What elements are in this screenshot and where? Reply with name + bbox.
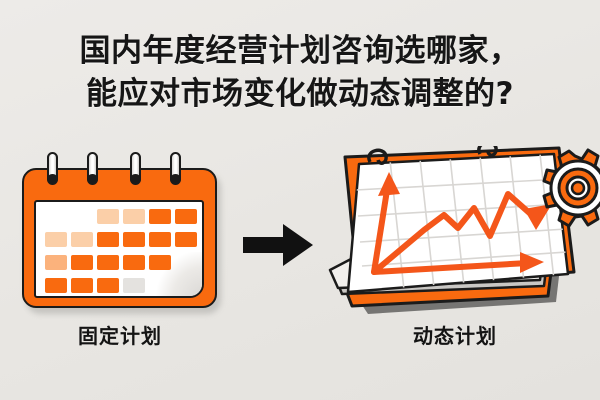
calendar-day-cell — [97, 255, 119, 270]
poster-canvas: 国内年度经营计划咨询选哪家， 能应对市场变化做动态调整的? 固定计划 — [0, 0, 600, 400]
calendar-day-cell — [175, 255, 197, 270]
calendar-day-cell — [45, 209, 67, 224]
calendar-day-cell — [97, 232, 119, 247]
calendar-day-cell — [123, 255, 145, 270]
headline-line-1: 国内年度经营计划咨询选哪家， — [0, 30, 600, 73]
calendar-day-cell — [71, 278, 93, 293]
calendar-day-cell — [71, 209, 93, 224]
calendar-day-cell — [175, 232, 197, 247]
calendar-page — [34, 200, 204, 298]
calendar-day-cell — [123, 209, 145, 224]
calendar-icon — [22, 168, 217, 308]
calendar-ring-icon — [47, 152, 58, 184]
calendar-day-cell — [45, 278, 67, 293]
calendar-ring-icon — [130, 152, 141, 184]
calendar-day-cell — [149, 255, 171, 270]
chart-calendar-icon — [312, 146, 600, 316]
calendar-rings — [22, 152, 217, 186]
caption-fixed-plan: 固定计划 — [20, 320, 220, 349]
calendar-ring-icon — [87, 152, 98, 184]
calendar-day-cell — [45, 232, 67, 247]
calendar-day-cell — [123, 232, 145, 247]
calendar-day-cell — [149, 278, 171, 293]
calendar-day-cell — [123, 278, 145, 293]
caption-dynamic-plan: 动态计划 — [355, 320, 555, 349]
calendar-day-cell — [71, 255, 93, 270]
headline-line-2: 能应对市场变化做动态调整的? — [0, 73, 600, 116]
calendar-day-cell — [71, 232, 93, 247]
calendar-day-grid — [45, 209, 197, 297]
calendar-day-cell — [175, 209, 197, 224]
calendar-day-cell — [45, 255, 67, 270]
calendar-day-cell — [97, 209, 119, 224]
calendar-day-cell — [149, 209, 171, 224]
calendar-ring-icon — [170, 152, 181, 184]
calendar-day-cell — [175, 278, 197, 293]
page-title: 国内年度经营计划咨询选哪家， 能应对市场变化做动态调整的? — [0, 30, 600, 116]
arrow-right-icon — [243, 222, 315, 268]
calendar-day-cell — [97, 278, 119, 293]
calendar-body — [22, 168, 217, 308]
calendar-day-cell — [149, 232, 171, 247]
